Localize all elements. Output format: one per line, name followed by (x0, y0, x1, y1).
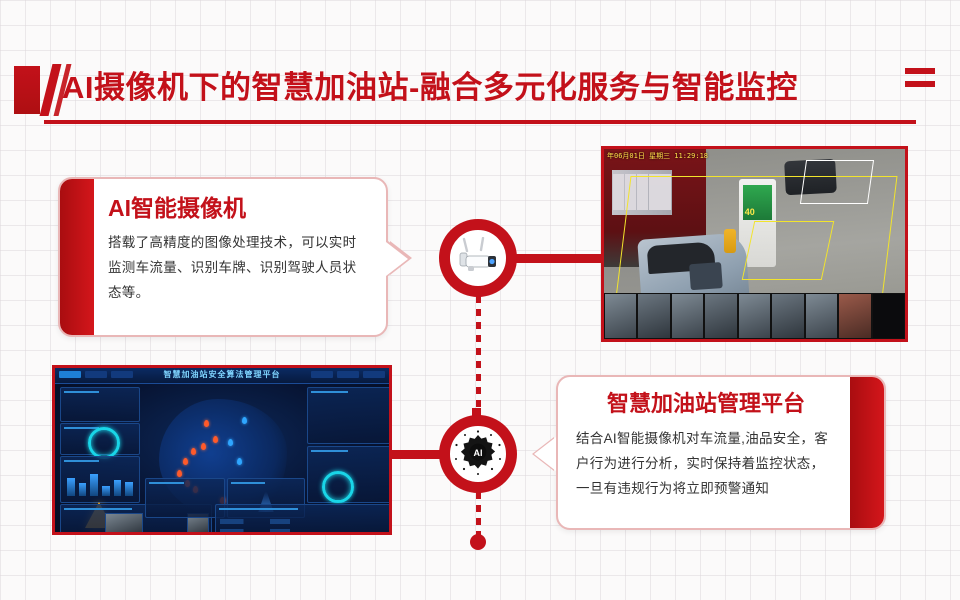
map-pin[interactable] (204, 420, 209, 427)
gauge-ring (88, 427, 120, 459)
node-security-camera[interactable] (439, 219, 517, 297)
surveillance-photo: 40 年06月01日 星期三 11:29:18 1号油机 (601, 146, 908, 342)
map-pin[interactable] (183, 458, 188, 465)
card-accent-bar (60, 179, 94, 335)
connector-dashed-tail (476, 492, 481, 540)
thumbnail-item[interactable] (605, 294, 636, 338)
connector-end-dot (470, 534, 486, 550)
map-pin-blue[interactable] (242, 417, 247, 424)
radar-ring (322, 471, 354, 503)
card-body: 结合AI智能摄像机对车流量,油品安全，客户行为进行分析，实时保持着监控状态，一旦… (576, 426, 836, 501)
panel-radar (307, 446, 392, 503)
connector-camera-to-photo (515, 254, 605, 263)
card-pointer-right (386, 242, 408, 276)
capture-thumbnail-strip[interactable] (604, 293, 905, 339)
map-pin[interactable] (191, 448, 196, 455)
card-pointer-left (534, 437, 556, 471)
panel-bar-chart (60, 456, 140, 503)
title-block-decoration (14, 66, 40, 114)
thumbnail-item[interactable] (873, 294, 904, 338)
thumbnail-item[interactable] (638, 294, 669, 338)
surveillance-scene: 40 年06月01日 星期三 11:29:18 1号油机 (604, 149, 905, 339)
table-rows (220, 519, 387, 533)
card-station-platform: 智慧加油站管理平台 结合AI智能摄像机对车流量,油品安全，客户行为进行分析，实时… (556, 375, 886, 530)
dashboard-title: 智慧加油站安全算法管理平台 (55, 369, 389, 380)
thumbnail-item[interactable] (739, 294, 770, 338)
title-underline (44, 120, 916, 124)
detection-zone-far (800, 160, 874, 204)
svg-text:AI: AI (474, 448, 483, 458)
card-body: 搭载了高精度的图像处理技术，可以实时监测车流量、识别车牌、识别驾驶人员状态等。 (108, 230, 368, 305)
panel-gauge (60, 423, 140, 455)
detection-zone-secondary (742, 221, 835, 280)
card-title: AI智能摄像机 (108, 193, 368, 223)
thumbnail-item[interactable] (672, 294, 703, 338)
panel-legend-chart (145, 478, 225, 518)
panel-data-table (215, 504, 392, 535)
security-camera-icon (452, 237, 504, 279)
connector-dashed-vertical (476, 296, 481, 416)
event-thumbnail[interactable] (105, 513, 143, 535)
page-title: AI摄像机下的智慧加油站-融合多元化服务与智能监控 (62, 60, 798, 116)
ai-gear-icon: AI (453, 429, 503, 479)
dashboard-photo: 智慧加油站安全算法管理平台 (52, 365, 392, 535)
connector-dashboard-to-node (390, 450, 442, 459)
thumbnail-item[interactable] (839, 294, 870, 338)
thumbnail-item[interactable] (705, 294, 736, 338)
map-pin-blue[interactable] (228, 439, 233, 446)
card-accent-bar (850, 377, 884, 528)
card-title: 智慧加油站管理平台 (576, 389, 836, 419)
node-ai-gear[interactable]: AI (439, 415, 517, 493)
map-pin[interactable] (201, 443, 206, 450)
panel-device-grid (307, 387, 392, 444)
thumbnail-item[interactable] (772, 294, 803, 338)
page-header: AI摄像机下的智慧加油站-融合多元化服务与智能监控 (0, 62, 960, 128)
thumbnail-item[interactable] (806, 294, 837, 338)
bar-chart (67, 470, 133, 496)
map-pin[interactable] (177, 470, 182, 477)
camera-timestamp: 年06月01日 星期三 11:29:18 (607, 151, 708, 161)
card-ai-camera: AI智能摄像机 搭载了高精度的图像处理技术，可以实时监测车流量、识别车牌、识别驾… (58, 177, 388, 337)
panel-stat-summary (60, 387, 140, 422)
equals-mark-icon (905, 68, 935, 102)
